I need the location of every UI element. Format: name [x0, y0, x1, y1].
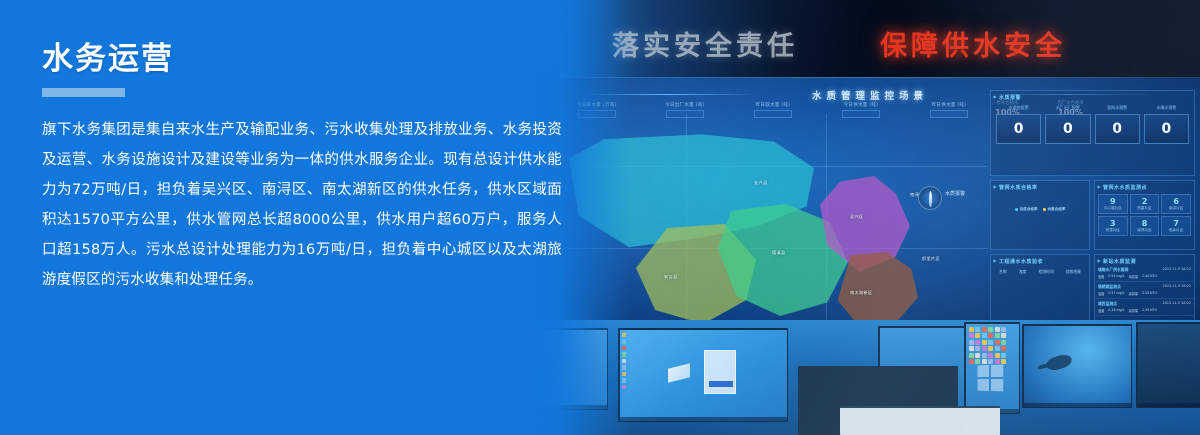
taskbar [540, 405, 607, 409]
region-map[interactable]: 长兴县 德清县 安吉县 吴兴区 南太湖新区 南浔片区 织里片区 [558, 114, 988, 324]
legend-item: 浊度合格率 [1015, 207, 1038, 212]
operator-desk [540, 320, 1200, 435]
map-region-label: 安吉县 [664, 274, 677, 280]
windows-logo-icon [668, 363, 690, 382]
desktop-icon [975, 346, 980, 351]
video-wall: 水质管理监控场景 今日取水量 (万吨) 今日出厂水量 (吨) 昨日取水量 (吨)… [540, 78, 1200, 328]
desktop-icon [988, 333, 993, 338]
list-panel-title: 新站水质监测 [1095, 255, 1194, 265]
metric-turbidity-value: 0.57 mg/L [1108, 291, 1124, 296]
legend-swatch-icon [1015, 208, 1018, 211]
map-region-nantaihu[interactable] [836, 252, 918, 328]
alarm-card-value: 0 [996, 114, 1041, 144]
point-value: 3 [1099, 219, 1127, 228]
led-banner-left-text: 落实安全责任 [612, 24, 798, 63]
list-item[interactable]: 锦绣路监测点 2022-11-9 18:22 浊度 0.57 mg/L 余氯量 … [1095, 282, 1194, 299]
desk-monitor [618, 328, 788, 422]
desktop-icon [622, 339, 627, 344]
metric-turbidity-label: 浊度 [1098, 308, 1104, 313]
desktop-icon [1001, 327, 1006, 332]
rate-panel-title: 管网水质合格率 [991, 181, 1089, 191]
metric-chlorine-label: 余氯量 [1128, 308, 1138, 313]
desktop-icon [969, 327, 974, 332]
desktop-icon [988, 353, 993, 358]
point-label: 临乡片区 [1162, 228, 1190, 233]
desktop-icon [995, 340, 1000, 345]
water-operations-banner: 落实安全责任 保障供水安全 水质管理监控场景 今日取水量 (万吨) 今日出厂水量… [0, 0, 1200, 435]
taskbar [620, 417, 787, 421]
kpi-label: 昨日供水量 (吨) [910, 102, 988, 108]
desktop-icon [622, 346, 627, 351]
desktop-icon [969, 359, 974, 364]
taskbar [1138, 403, 1200, 407]
point-value: 8 [1131, 219, 1159, 228]
list-item-time: 2022-11-9 18:22 [1163, 267, 1191, 273]
desktop-icon [622, 385, 627, 390]
desk-monitor [540, 328, 608, 410]
station-monitor-panel[interactable]: 新站水质监测 城南水厂供水管网 2022-11-9 18:22 浊度 0.54 … [1094, 254, 1195, 326]
desktop-icon [622, 333, 627, 338]
desktop-icon [995, 346, 1000, 351]
copy-block: 水务运营 旗下水务集团是集自来水生产及输配业务、污水收集处理及排放业务、水务投资… [42, 44, 562, 295]
alarm-card[interactable]: 水厂出厂报警 0 [1045, 105, 1090, 144]
desktop-icon [995, 353, 1000, 358]
spreadsheet-screen [840, 406, 1000, 435]
point-value: 9 [1099, 197, 1127, 206]
map-region-label: 吴兴区 [850, 214, 863, 220]
desktop-icon [622, 365, 627, 370]
alarm-card-label: 末端水报警 [1144, 105, 1189, 111]
alarm-card[interactable]: 末端水报警 0 [1144, 105, 1189, 144]
desktop-icon [622, 352, 627, 357]
windows-pane [977, 365, 989, 377]
desktop-icon [982, 353, 987, 358]
point-cell[interactable]: 7 临乡片区 [1161, 216, 1191, 236]
point-label: 织里片区 [1099, 228, 1127, 233]
point-label: 南郊片区 [1131, 228, 1159, 233]
desktop-icon [982, 333, 987, 338]
alarm-panel[interactable]: 水质报警 水源地报警 0 水厂出厂报警 0 管网水报警 0 [990, 90, 1195, 176]
compass-icon [918, 186, 942, 210]
desktop-icon [988, 340, 993, 345]
legend-label: 浊度合格率 [1020, 207, 1038, 212]
points-panel-title: 管网水水质监测点 [1095, 181, 1194, 191]
desktop-icon [975, 340, 980, 345]
desktop-icon [982, 346, 987, 351]
legend-swatch-icon [1043, 208, 1046, 211]
map-region-label: 德清县 [772, 250, 785, 256]
desktop-icon [622, 378, 627, 383]
desktop-icon [1001, 353, 1006, 358]
point-label: 南浔片区 [1162, 206, 1190, 211]
metric-turbidity-label: 浊度 [1098, 291, 1104, 296]
desktop-icon [982, 327, 987, 332]
list-item-header: 锦绣路监测点 2022-11-9 18:22 [1098, 284, 1191, 290]
acceptance-column-header: 名称 [999, 269, 1007, 275]
body-paragraph: 旗下水务集团是集自来水生产及输配业务、污水收集处理及排放业务、水务投资及运营、水… [42, 115, 562, 295]
acceptance-panel-title: 工程通水水质验收 [991, 255, 1089, 265]
metric-chlorine-value: 3.05 NTU [1142, 291, 1157, 296]
qualification-rate-panel[interactable]: 管网水质合格率 浊度合格率 余氯合格率 [990, 180, 1090, 250]
desktop-icon [969, 340, 974, 345]
monitor-screen [540, 330, 607, 409]
desktop-icon [969, 346, 974, 351]
list-item-time: 2022-11-9 18:22 [1163, 301, 1191, 307]
desktop-icon-column [622, 333, 627, 390]
title-underline-rule [42, 88, 125, 97]
kpi-label: 今日出厂水量 (吨) [646, 102, 724, 108]
list-item-header: 城西监测点 2022-11-9 18:22 [1098, 301, 1191, 307]
point-cell[interactable]: 8 南郊片区 [1130, 216, 1160, 236]
desktop-icon [975, 353, 980, 358]
desktop-icon-grid [969, 327, 1007, 365]
windows-pane [990, 379, 1002, 391]
point-cell[interactable]: 6 南浔片区 [1161, 194, 1191, 214]
taskbar [1024, 403, 1131, 407]
metric-chlorine-label: 余氯量 [1128, 274, 1138, 279]
desktop-icon [622, 359, 627, 364]
acceptance-panel[interactable]: 工程通水水质验收 名称 浊度 检测时间 验收结果 [990, 254, 1090, 326]
kpi-label: 今日供水量 (吨) [822, 102, 900, 108]
list-item-time: 2022-11-9 18:22 [1163, 284, 1191, 290]
list-item-metrics: 浊度 0.57 mg/L 余氯量 3.05 NTU [1098, 291, 1191, 296]
point-value: 6 [1162, 197, 1190, 206]
list-item-metrics: 浊度 0.16 mg/L 余氯量 1.59 NTU [1098, 308, 1191, 313]
desktop-icon [1001, 359, 1006, 364]
desktop-icon [988, 346, 993, 351]
list-item-name: 城西监测点 [1098, 301, 1117, 307]
desktop-icon [995, 327, 1000, 332]
desktop-icon [988, 359, 993, 364]
monitor-screen [620, 330, 787, 421]
list-item-name: 城南水厂供水管网 [1098, 267, 1128, 273]
metric-chlorine-label: 余氯量 [1128, 291, 1138, 296]
desktop-icon [988, 327, 993, 332]
alarm-card[interactable]: 管网水报警 0 [1095, 105, 1140, 144]
desk-monitor [1022, 324, 1132, 408]
alarm-card-label: 水源地报警 [996, 105, 1041, 111]
map-region-label: 长兴县 [754, 180, 767, 186]
page-title: 水务运营 [42, 44, 562, 75]
windows-logo-icon [977, 364, 1003, 391]
alarm-card-label: 水厂出厂报警 [1045, 105, 1090, 111]
desktop-icon [969, 333, 974, 338]
points-grid: 9 中心城片区 2 西塞片区 6 南浔片区 3 [1095, 191, 1194, 239]
monitor-screen [1024, 326, 1131, 407]
metric-turbidity-value: 0.54 mg/L [1108, 274, 1124, 279]
point-value: 2 [1131, 197, 1159, 206]
list-item-name: 锦绣路监测点 [1098, 284, 1121, 290]
desktop-icon [1001, 333, 1006, 338]
dashboard-column: 水质报警 水源地报警 0 水厂出厂报警 0 管网水报警 0 [990, 90, 1195, 325]
kpi-label: 今日取水量 (万吨) [558, 102, 636, 108]
acceptance-column-header: 检测时间 [1038, 269, 1053, 275]
acceptance-column-header: 验收结果 [1066, 269, 1081, 275]
diver-wallpaper-icon [1044, 352, 1073, 372]
open-window [704, 350, 736, 394]
point-label: 中心城片区 [1099, 206, 1127, 211]
alarm-card-value: 0 [1144, 114, 1189, 144]
point-cell[interactable]: 9 中心城片区 [1098, 194, 1128, 214]
list-item[interactable]: 城南水厂供水管网 2022-11-9 18:22 浊度 0.54 mg/L 余氯… [1095, 265, 1194, 282]
alarm-card-label: 管网水报警 [1095, 105, 1140, 111]
legend-label: 余氯合格率 [1048, 207, 1066, 212]
alarm-panel-title: 水质报警 [991, 91, 1194, 101]
rate-legend: 浊度合格率 余氯合格率 [991, 207, 1089, 212]
alarm-card-value: 0 [1095, 114, 1140, 144]
desktop-icon [1001, 346, 1006, 351]
metric-turbidity-label: 浊度 [1098, 274, 1104, 279]
desktop-icon [1001, 340, 1006, 345]
desk-monitor [1136, 322, 1200, 408]
desktop-icon [982, 359, 987, 364]
metric-turbidity-value: 0.16 mg/L [1108, 308, 1124, 313]
desk-monitor [964, 322, 1020, 414]
led-banner-right-text: 保障供水安全 [880, 24, 1066, 63]
desktop-icon [975, 327, 980, 332]
monitoring-points-panel[interactable]: 管网水水质监测点 9 中心城片区 2 西塞片区 6 南浔片区 [1094, 180, 1195, 250]
alarm-card-value: 0 [1045, 114, 1090, 144]
monitor-screen [1138, 324, 1200, 407]
desktop-icon [622, 372, 627, 377]
compass-label: 水质报警 [945, 190, 965, 197]
monitor-screen [966, 324, 1019, 413]
metric-chlorine-value: 1.59 NTU [1142, 308, 1157, 313]
acceptance-column-header: 浊度 [1019, 269, 1027, 275]
metric-chlorine-value: 1.44 NTU [1142, 274, 1157, 279]
desktop-icon [995, 359, 1000, 364]
acceptance-table-header: 名称 浊度 检测时间 验收结果 [991, 265, 1089, 275]
windows-pane [977, 378, 989, 390]
led-banner: 落实安全责任 保障供水安全 [540, 0, 1200, 82]
alarm-card[interactable]: 水源地报警 0 [996, 105, 1041, 144]
desktop-icon [975, 359, 980, 364]
point-cell[interactable]: 3 织里片区 [1098, 216, 1128, 236]
alarm-card-row: 水源地报警 0 水厂出厂报警 0 管网水报警 0 末端水报警 [991, 101, 1194, 148]
point-label: 西塞片区 [1131, 206, 1159, 211]
desktop-icon [982, 340, 987, 345]
desktop-icon [975, 333, 980, 338]
list-item-metrics: 浊度 0.54 mg/L 余氯量 1.44 NTU [1098, 274, 1191, 279]
list-item-header: 城南水厂供水管网 2022-11-9 18:22 [1098, 267, 1191, 273]
desktop-icon [969, 353, 974, 358]
map-side-label: 织里片区 [922, 256, 940, 262]
point-cell[interactable]: 2 西塞片区 [1130, 194, 1160, 214]
list-item[interactable]: 城西监测点 2022-11-9 18:22 浊度 0.16 mg/L 余氯量 1… [1095, 299, 1194, 316]
desktop-icon [995, 333, 1000, 338]
map-region-label: 南太湖新区 [850, 290, 872, 296]
legend-item: 余氯合格率 [1043, 207, 1066, 212]
control-room-photo: 落实安全责任 保障供水安全 水质管理监控场景 今日取水量 (万吨) 今日出厂水量… [540, 0, 1200, 435]
windows-pane [990, 364, 1002, 376]
point-value: 7 [1162, 219, 1190, 228]
kpi-label: 昨日取水量 (吨) [734, 102, 812, 108]
